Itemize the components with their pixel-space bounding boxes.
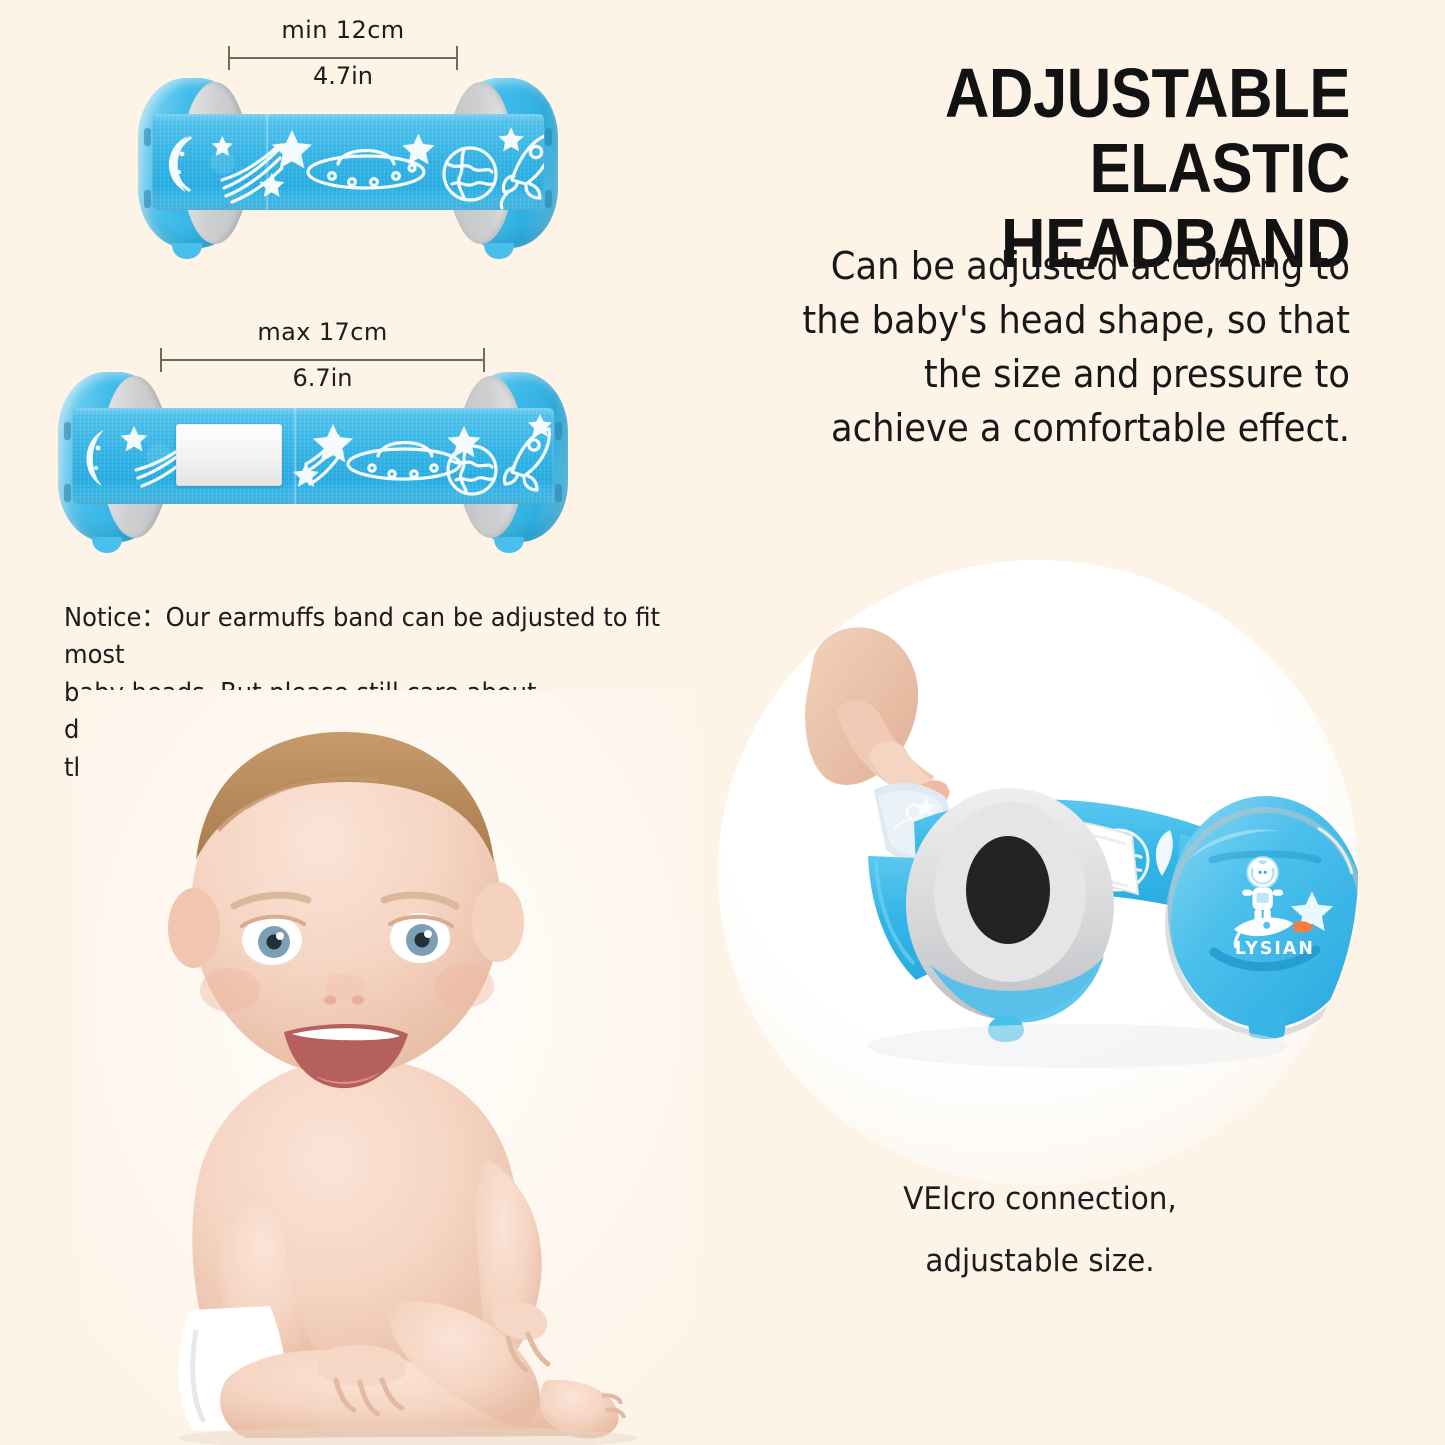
infographic-page: min 12cm 4.7in bbox=[0, 0, 1445, 1445]
description-line-2: the baby's head shape, so that bbox=[746, 294, 1351, 348]
brand-logo-text: LYSIAN bbox=[1235, 939, 1315, 959]
earcup-right-extended-hinge-bottom bbox=[555, 484, 562, 502]
earcup-right-hinge-top bbox=[545, 128, 552, 146]
dimension-min-rule bbox=[228, 57, 458, 59]
description-text: Can be adjusted according to the baby's … bbox=[746, 240, 1351, 456]
earcup-left-hinge-bottom bbox=[144, 190, 151, 208]
description-line-4: achieve a comfortable effect. bbox=[746, 402, 1351, 456]
earcup-left-hinge-top bbox=[144, 128, 151, 146]
earcup-right-hinge-bottom bbox=[545, 190, 552, 208]
headband-strap-max bbox=[72, 408, 554, 504]
headline-line-1: ADJUSTABLE bbox=[778, 56, 1350, 131]
earcup-left-extended-hinge-bottom bbox=[64, 484, 71, 502]
dimension-max-top-label: max 17cm bbox=[160, 318, 485, 346]
earcup-left-extended-hinge-top bbox=[64, 422, 71, 440]
velcro-strip-extended bbox=[176, 424, 282, 486]
dimension-min-top-label: min 12cm bbox=[228, 16, 458, 44]
earcup-right-extended-hinge-top bbox=[555, 422, 562, 440]
caption-line-1: VElcro connection, bbox=[841, 1168, 1240, 1230]
earcup-right-nub bbox=[484, 243, 514, 259]
dimension-max-rule bbox=[160, 359, 485, 361]
headband-space-pattern bbox=[152, 114, 544, 210]
velcro-detail-photo: LYSIAN bbox=[718, 560, 1358, 1185]
description-line-3: the size and pressure to bbox=[746, 348, 1351, 402]
description-line-1: Can be adjusted according to bbox=[746, 240, 1351, 294]
earcup-left-nub bbox=[172, 243, 202, 259]
caption-line-2: adjustable size. bbox=[841, 1230, 1240, 1292]
notice-line-1: Notice：Our earmuffs band can be adjusted… bbox=[64, 600, 672, 675]
earcup-left-extended-nub bbox=[92, 537, 122, 553]
velcro-detail-illustration: LYSIAN bbox=[718, 560, 1358, 1185]
headband-strap-min bbox=[152, 114, 544, 210]
earcup-right-extended-nub bbox=[494, 537, 524, 553]
velcro-caption: VElcro connection, adjustable size. bbox=[841, 1168, 1240, 1292]
baby-photo bbox=[78, 690, 698, 1445]
product-image-max-size bbox=[58, 372, 568, 564]
baby-illustration bbox=[78, 690, 698, 1445]
product-image-min-size bbox=[138, 78, 558, 268]
headband-space-pattern-extended bbox=[72, 408, 554, 504]
